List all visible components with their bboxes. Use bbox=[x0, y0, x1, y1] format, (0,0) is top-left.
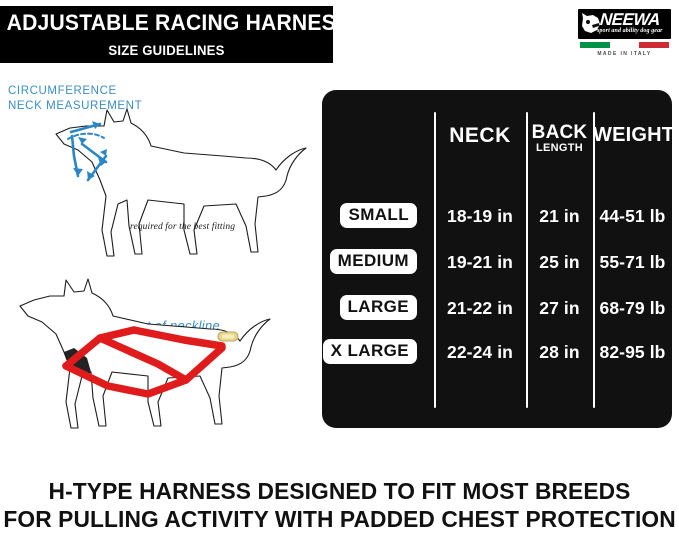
size-guide-infographic: ADJUSTABLE RACING HARNESS SIZE GUIDELINE… bbox=[0, 0, 679, 544]
logo-tagline: sport and ability dog gear bbox=[597, 28, 663, 34]
italian-flag-icon bbox=[580, 42, 669, 48]
cell-neck: 19-21 in bbox=[434, 252, 526, 273]
buckle-icon bbox=[218, 332, 238, 341]
footer-line-2: FOR PULLING ACTIVITY WITH PADDED CHEST P… bbox=[3, 505, 675, 533]
table-row[interactable]: LARGE 21-22 in 27 in 68-79 lb bbox=[322, 288, 672, 332]
cell-neck: 21-22 in bbox=[434, 298, 526, 319]
column-header-neck: NECK bbox=[434, 124, 526, 148]
cell-weight: 68-79 lb bbox=[593, 298, 672, 319]
annotation-subtext: required for the best fitting bbox=[130, 222, 300, 232]
cell-neck: 22-24 in bbox=[434, 342, 526, 363]
illustration-panel: CIRCUMFERENCE NECK MEASUREMENT required … bbox=[8, 84, 313, 464]
dog-neck-measurement-diagram bbox=[8, 84, 313, 274]
cell-back: 27 in bbox=[526, 298, 593, 319]
size-badge: LARGE bbox=[340, 295, 418, 320]
table-row[interactable]: X LARGE 22-24 in 28 in 82-95 lb bbox=[322, 332, 672, 376]
cell-back: 21 in bbox=[526, 206, 593, 227]
column-header-back: BACK bbox=[526, 122, 593, 144]
brand-logo: NEEWA sport and ability dog gear MADE IN… bbox=[578, 9, 671, 67]
cell-back: 25 in bbox=[526, 252, 593, 273]
table-row[interactable]: SMALL 18-19 in 21 in 44-51 lb bbox=[322, 196, 672, 240]
page-subtitle: SIZE GUIDELINES bbox=[10, 42, 323, 58]
cell-back: 28 in bbox=[526, 342, 593, 363]
dog-harness-diagram bbox=[8, 268, 313, 458]
cell-weight: 44-51 lb bbox=[593, 206, 672, 227]
column-header-weight: WEIGHT bbox=[593, 124, 672, 147]
page-title: ADJUSTABLE RACING HARNESS bbox=[7, 10, 327, 36]
cell-weight: 55-71 lb bbox=[593, 252, 672, 273]
cell-neck: 18-19 in bbox=[434, 206, 526, 227]
cell-weight: 82-95 lb bbox=[593, 342, 672, 363]
logo-badge: NEEWA sport and ability dog gear bbox=[578, 9, 671, 39]
size-badge: X LARGE bbox=[323, 339, 417, 364]
column-header-back-length: LENGTH bbox=[526, 142, 593, 154]
header-banner: ADJUSTABLE RACING HARNESS SIZE GUIDELINE… bbox=[0, 6, 333, 63]
footer-tagline: H-TYPE HARNESS DESIGNED TO FIT MOST BREE… bbox=[0, 477, 679, 533]
footer-line-1: H-TYPE HARNESS DESIGNED TO FIT MOST BREE… bbox=[3, 477, 675, 505]
made-in-italy-label: MADE IN ITALY bbox=[578, 51, 671, 57]
size-table: NECK BACK LENGTH WEIGHT SMALL 18-19 in 2… bbox=[322, 90, 672, 428]
table-row[interactable]: MEDIUM 19-21 in 25 in 55-71 lb bbox=[322, 242, 672, 286]
size-badge: MEDIUM bbox=[330, 249, 417, 274]
logo-brand-text: NEEWA bbox=[599, 10, 660, 30]
size-badge: SMALL bbox=[340, 203, 417, 228]
